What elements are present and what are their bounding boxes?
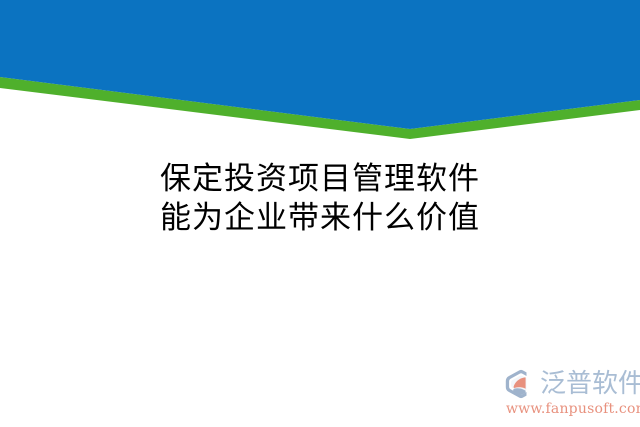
- brand-logo: 泛普软件 www.fanpusoft.com: [505, 368, 637, 418]
- fanpu-logo-icon-svg: [505, 369, 537, 399]
- page-title-line-1: 保定投资项目管理软件: [0, 160, 640, 199]
- brand-url: www.fanpusoft.com: [506, 401, 637, 418]
- banner-blue-body: [0, 0, 640, 129]
- brand-logo-row: 泛普软件: [505, 368, 637, 400]
- slide-canvas: 保定投资项目管理软件 能为企业带来什么价值 泛普软件 www.fanpusoft…: [0, 0, 640, 427]
- chevron-banner-svg: [0, 0, 640, 140]
- page-title: 保定投资项目管理软件 能为企业带来什么价值: [0, 160, 640, 238]
- fanpu-logo-icon: [505, 369, 537, 399]
- page-title-line-2: 能为企业带来什么价值: [0, 199, 640, 238]
- brand-name: 泛普软件: [540, 369, 640, 399]
- chevron-banner: [0, 0, 640, 140]
